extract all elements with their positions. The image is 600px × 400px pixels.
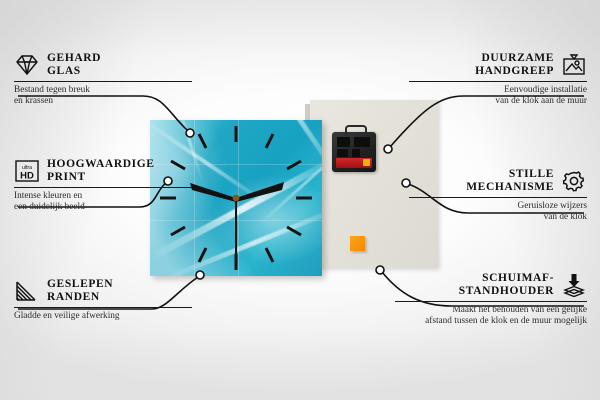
feature-desc-line2: van de klok [409, 212, 587, 223]
mechanism-detail [352, 149, 360, 157]
feature-desc-line1: Bestand tegen breuk [14, 85, 192, 96]
feature-divider [14, 81, 192, 82]
feature-desc-line2: en krassen [14, 96, 192, 107]
mechanism-detail [337, 137, 350, 147]
feature-title-line1: HOOGWAARDIGE [47, 158, 155, 171]
feature-title-line1: SCHUIMAF- [459, 272, 554, 285]
feature-desc-line1: Eenvoudige installatie [409, 85, 587, 96]
feature-title-line2: STANDHOUDER [459, 285, 554, 298]
feature-geslepen-randen[interactable]: GESLEPEN RANDEN Gladde en veilige afwerk… [14, 278, 192, 322]
feature-description: Gladde en veilige afwerking [14, 311, 192, 322]
feature-title: STILLE MECHANISME [466, 168, 554, 194]
mechanism-hanger [345, 125, 367, 136]
diamond-icon [14, 53, 40, 77]
feature-description: Geruisloze wijzers van de klok [409, 201, 587, 223]
feature-desc-line1: Geruisloze wijzers [409, 201, 587, 212]
feature-divider [409, 81, 587, 82]
feature-title: GESLEPEN RANDEN [47, 278, 113, 304]
foam-spacer [350, 236, 365, 251]
feature-desc-line2: afstand tussen de klok en de muur mogeli… [395, 316, 587, 327]
gear-icon [561, 169, 587, 193]
feature-heading: ultra HD HOOGWAARDIGE PRINT [14, 158, 192, 184]
feature-title: GEHARD GLAS [47, 52, 101, 78]
feature-title-line1: STILLE [466, 168, 554, 181]
feature-stille-mechanisme[interactable]: STILLE MECHANISME Geruisloze wijzers van… [409, 168, 587, 223]
feature-heading: GESLEPEN RANDEN [14, 278, 192, 304]
feature-desc-line2: van de klok aan de muur [409, 96, 587, 107]
feature-heading: DUURZAME HANDGREEP [409, 52, 587, 78]
beveled-edge-icon [14, 279, 40, 303]
feature-title: HOOGWAARDIGE PRINT [47, 158, 155, 184]
foam-spacer-icon [561, 273, 587, 297]
mechanism-detail [337, 149, 348, 157]
feature-description: Eenvoudige installatie van de klok aan d… [409, 85, 587, 107]
feature-title-line2: HANDGREEP [475, 65, 554, 78]
ultra-hd-icon: ultra HD [14, 159, 40, 183]
feature-divider [395, 301, 587, 302]
clock-mechanism [332, 132, 376, 172]
feature-duurzame-handgreep[interactable]: DUURZAME HANDGREEP Eenvoudige installati… [409, 52, 587, 107]
feature-title-line2: PRINT [47, 171, 155, 184]
picture-hanger-icon [561, 53, 587, 77]
feature-desc-line1: Maakt het behouden van een gelijke [395, 305, 587, 316]
feature-description: Maakt het behouden van een gelijke afsta… [395, 305, 587, 327]
feature-desc-line1: Gladde en veilige afwerking [14, 311, 192, 322]
feature-title-line1: DUURZAME [475, 52, 554, 65]
feature-description: Intense kleuren en een duidelijk beeld [14, 191, 192, 213]
feature-desc-line1: Intense kleuren en [14, 191, 192, 202]
feature-heading: GEHARD GLAS [14, 52, 192, 78]
feature-heading: STILLE MECHANISME [409, 168, 587, 194]
battery [336, 158, 372, 168]
feature-gehard-glas[interactable]: GEHARD GLAS Bestand tegen breuk en krass… [14, 52, 192, 107]
feature-divider [14, 187, 192, 188]
feature-divider [14, 307, 192, 308]
infographic-canvas: GEHARD GLAS Bestand tegen breuk en krass… [0, 0, 600, 400]
feature-title: SCHUIMAF- STANDHOUDER [459, 272, 554, 298]
feature-title-line2: RANDEN [47, 291, 113, 304]
feature-title-line2: GLAS [47, 65, 101, 78]
feature-divider [409, 197, 587, 198]
feature-hoogwaardige-print[interactable]: ultra HD HOOGWAARDIGE PRINT Intense kleu… [14, 158, 192, 213]
mechanism-detail [354, 137, 370, 147]
feature-desc-line2: een duidelijk beeld [14, 202, 192, 213]
feature-title-line2: MECHANISME [466, 181, 554, 194]
feature-description: Bestand tegen breuk en krassen [14, 85, 192, 107]
feature-title-line1: GESLEPEN [47, 278, 113, 291]
feature-title-line1: GEHARD [47, 52, 101, 65]
feature-title: DUURZAME HANDGREEP [475, 52, 554, 78]
feature-heading: SCHUIMAF- STANDHOUDER [395, 272, 587, 298]
svg-text:HD: HD [20, 171, 34, 182]
feature-schuimafstandhouder[interactable]: SCHUIMAF- STANDHOUDER Maakt het behouden… [395, 272, 587, 327]
